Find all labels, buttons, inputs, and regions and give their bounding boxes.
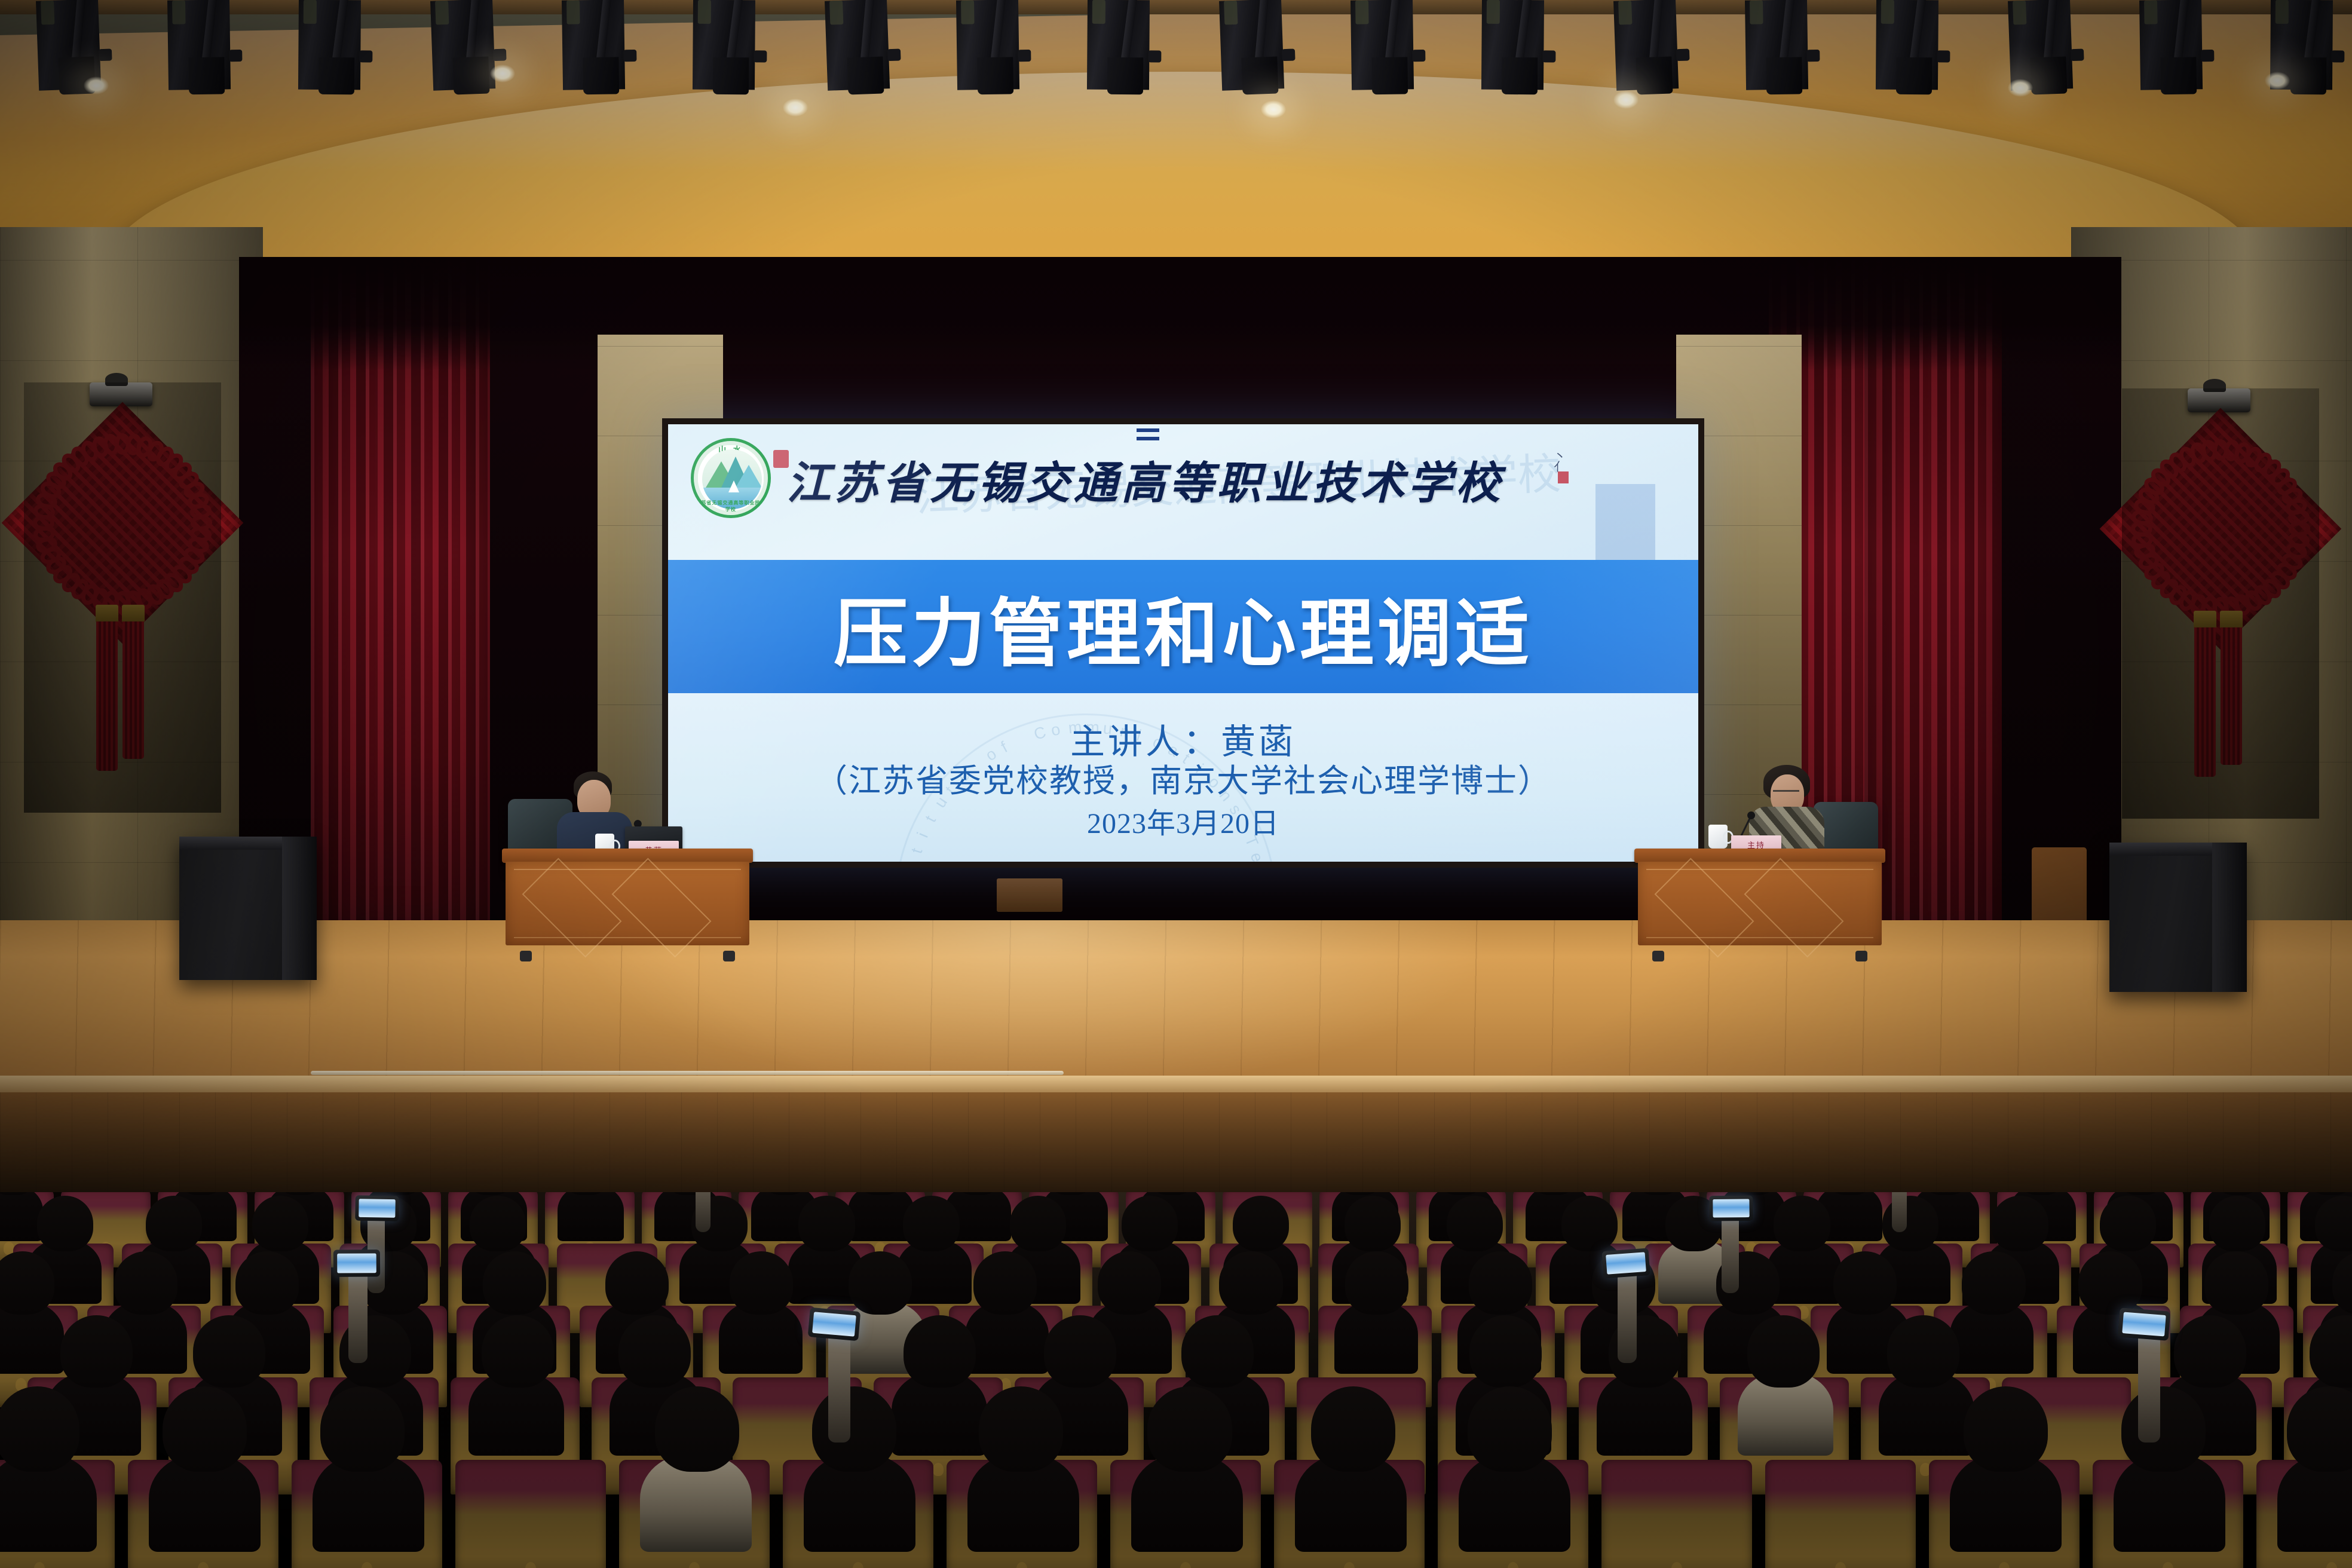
left-desk-group: 黄菡 xyxy=(502,750,753,953)
stage-light-fixture xyxy=(2008,0,2073,91)
right-desk-group: 主持 xyxy=(1634,747,1885,953)
pa-speaker-left xyxy=(179,837,317,980)
stage-light-fixture xyxy=(693,0,755,90)
audience-member-head xyxy=(1044,1315,1116,1388)
audience-member-head xyxy=(1561,1196,1618,1251)
audience-member-head xyxy=(37,1196,93,1251)
stage-light-fixture xyxy=(825,0,890,91)
audience-member-head xyxy=(1147,1386,1232,1472)
audience-seat xyxy=(455,1460,606,1568)
raised-arm xyxy=(348,1265,367,1363)
attendee-phone xyxy=(808,1307,861,1341)
stage-light-fixture xyxy=(1745,0,1808,90)
audience-member-head xyxy=(903,1196,959,1251)
stage-light-fixture xyxy=(167,0,231,90)
auditorium-scene: 江苏省无锡交通高等职业技术学校 山 水 江苏省无锡交通高等职业技术学校 江苏省无… xyxy=(0,0,2352,1568)
audience-member-head xyxy=(973,1251,1037,1314)
audience-member-head xyxy=(0,1386,79,1472)
stage-light-fixture xyxy=(1481,0,1544,90)
raised-arm xyxy=(828,1328,851,1443)
stage-light-fixture xyxy=(956,0,1019,90)
projection-screen-frame: 江苏省无锡交通高等职业技术学校 山 水 江苏省无锡交通高等职业技术学校 江苏省无… xyxy=(662,418,1704,868)
audience-member-head xyxy=(1345,1251,1408,1314)
stage-light-fixture xyxy=(1219,0,1284,91)
slide-header-zone: 江苏省无锡交通高等职业技术学校 山 水 江苏省无锡交通高等职业技术学校 江苏省无… xyxy=(668,424,1698,560)
stage-light-fixture xyxy=(1350,0,1414,90)
pa-speaker-right xyxy=(2109,843,2247,992)
audience-member-head xyxy=(2174,1315,2246,1388)
signature-seal-icon xyxy=(1558,471,1569,483)
stage-light-fixture xyxy=(1876,0,1938,90)
speaker-desk-right xyxy=(1634,849,1885,953)
audience-seating-area xyxy=(0,1192,2352,1568)
audience-member-head xyxy=(193,1315,265,1388)
quote-mark-decoration xyxy=(1137,428,1159,432)
stage-light-fixture xyxy=(430,0,495,91)
audience-member-head xyxy=(1233,1196,1289,1251)
audience-member-head xyxy=(146,1196,202,1251)
raised-arm xyxy=(1618,1265,1637,1363)
audience-member-head xyxy=(483,1251,546,1314)
audience-member-head xyxy=(1311,1386,1395,1472)
audience-member-head xyxy=(320,1386,405,1472)
audience-member-head xyxy=(1964,1386,2048,1472)
audience-member-head xyxy=(2121,1386,2206,1472)
audience-member-head xyxy=(163,1386,247,1472)
blue-accent-chip xyxy=(1595,484,1655,560)
attendee-phone xyxy=(1601,1248,1650,1279)
audience-member-head xyxy=(2078,1251,2142,1314)
downlight xyxy=(2008,79,2033,97)
audience-member-head xyxy=(60,1315,133,1388)
chinese-knot-left xyxy=(24,382,221,813)
downlight xyxy=(84,76,109,94)
audience-member-head xyxy=(849,1251,912,1314)
stage-floor xyxy=(0,920,2352,1088)
audience-seat xyxy=(1765,1460,1916,1568)
audience-member-head xyxy=(470,1196,526,1251)
raised-arm xyxy=(2138,1328,2161,1443)
school-name-calligraphy: 江苏省无锡交通高等职业技术学校 xyxy=(786,448,1569,512)
audience-member-shoulders xyxy=(0,1192,43,1241)
audience-member-head xyxy=(1345,1196,1401,1251)
attendee-phone xyxy=(333,1249,380,1277)
audience-member-head xyxy=(1469,1315,1542,1388)
audience-member-head xyxy=(1098,1251,1161,1314)
stage-light-fixture xyxy=(298,0,361,90)
slide-title: 压力管理和心理调适 xyxy=(668,573,1698,681)
stage-light-fixture xyxy=(1613,0,1679,91)
audience-member-head xyxy=(979,1386,1063,1472)
chinese-knot-right xyxy=(2122,388,2319,819)
audience-member-head xyxy=(1219,1251,1282,1314)
raised-arm xyxy=(696,1192,710,1232)
audience-member-head xyxy=(1833,1251,1897,1314)
audience-member-head xyxy=(730,1251,793,1314)
slide-title-band: 压力管理和心理调适 xyxy=(668,560,1698,693)
stage-light-fixture xyxy=(562,0,625,90)
audience-member-head xyxy=(1181,1315,1254,1388)
audience-member-head xyxy=(798,1196,855,1251)
audience-member-head xyxy=(1122,1196,1178,1251)
projection-screen: 江苏省无锡交通高等职业技术学校 山 水 江苏省无锡交通高等职业技术学校 江苏省无… xyxy=(668,424,1698,862)
raised-arm xyxy=(1892,1192,1907,1232)
audience-member-head xyxy=(1774,1196,1830,1251)
downlight xyxy=(783,99,808,117)
audience-member-head xyxy=(1747,1315,1820,1388)
logo-arc-bottom-label: 江苏省无锡交通高等职业技术学校 xyxy=(694,500,768,513)
attendee-phone xyxy=(355,1195,399,1221)
audience-member-head xyxy=(2209,1196,2265,1251)
audience-member-head xyxy=(605,1251,669,1314)
stage-light-fixture xyxy=(2139,0,2203,90)
slide-footer-zone: Wuxi Institute of Communications Technol… xyxy=(668,693,1698,862)
audience-member-head xyxy=(2204,1251,2268,1314)
audience-member-head xyxy=(1887,1315,1959,1388)
downlight xyxy=(490,65,515,82)
audience-member-head xyxy=(235,1251,299,1314)
slide-credentials: （江苏省委党校教授，南京大学社会心理学博士） xyxy=(668,754,1698,801)
audience-member-head xyxy=(1447,1196,1503,1251)
stage-cable xyxy=(311,1071,1064,1075)
audience-seat xyxy=(1601,1460,1752,1568)
audience-member-head xyxy=(1468,1386,1552,1472)
audience-member-head xyxy=(1882,1196,1938,1251)
audience-member-head xyxy=(482,1315,554,1388)
stage-light-fixture xyxy=(1087,0,1150,90)
audience-member-head xyxy=(618,1315,691,1388)
audience-member-head xyxy=(655,1386,739,1472)
audience-member-head xyxy=(1992,1196,2048,1251)
audience-member-shoulders xyxy=(558,1192,624,1241)
proscenium-top-shadow xyxy=(239,257,2121,370)
school-logo-icon: 山 水 江苏省无锡交通高等职业技术学校 xyxy=(691,438,771,518)
audience-member-head xyxy=(1962,1251,2025,1314)
downlight xyxy=(2265,72,2290,90)
downlight xyxy=(1613,91,1639,109)
downlight xyxy=(1261,100,1286,118)
speaker-desk-left xyxy=(502,849,753,953)
audience-member-head xyxy=(1469,1251,1532,1314)
audience-member-head xyxy=(2100,1196,2156,1251)
audience-member-head xyxy=(114,1251,177,1314)
audience-member-head xyxy=(904,1315,976,1388)
attendee-phone xyxy=(1709,1195,1753,1221)
audience-member-head xyxy=(1010,1196,1066,1251)
audience-member-head xyxy=(252,1196,308,1251)
slide-date: 2023年3月20日 xyxy=(668,800,1698,841)
sailboat-icon xyxy=(728,480,739,492)
audience-member-head xyxy=(812,1386,896,1472)
tea-mug xyxy=(1708,825,1728,849)
backstage-wood-box xyxy=(997,878,1062,912)
attendee-phone xyxy=(2118,1307,2170,1340)
